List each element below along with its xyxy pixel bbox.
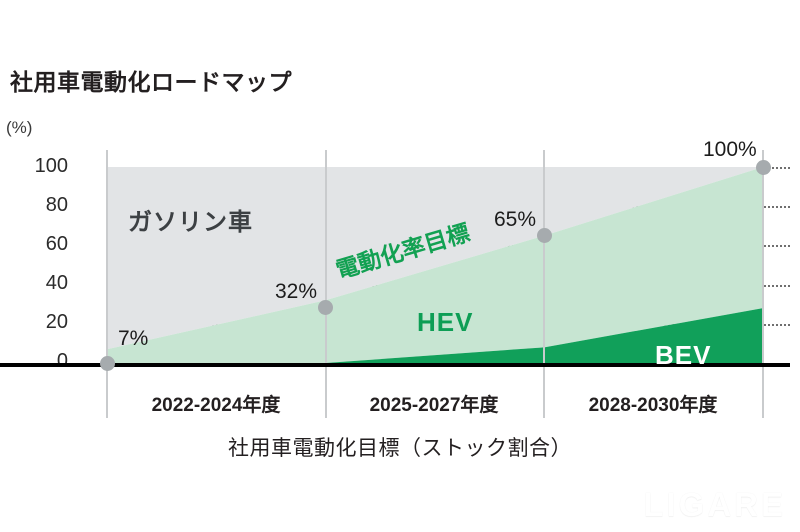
ligare-watermark: LIGARE <box>643 486 786 524</box>
divider-right <box>762 150 764 418</box>
y-tick-60: 60 <box>0 233 68 256</box>
data-label-100: 100% <box>703 138 757 162</box>
data-label-65: 65% <box>494 208 536 232</box>
data-point-marker-65 <box>537 228 552 243</box>
chart-caption: 社用車電動化目標（ストック割合） <box>0 432 800 462</box>
y-tick-0: 0 <box>0 350 68 373</box>
divider-left <box>106 150 108 418</box>
data-label-32: 32% <box>275 280 317 304</box>
data-point-marker-32 <box>318 300 333 315</box>
area-label-hev: HEV <box>417 307 473 338</box>
x-category-label-1: 2022-2024年度 <box>107 392 325 420</box>
y-axis-unit-label: (%) <box>6 118 32 138</box>
divider-2 <box>543 150 545 418</box>
chart-title: 社用車電動化ロードマップ <box>10 63 292 97</box>
chart-root: 社用車電動化ロードマップ (%) 100 80 60 40 20 0 ガソリン車… <box>0 0 800 532</box>
y-tick-100: 100 <box>0 155 68 178</box>
data-point-marker-100 <box>756 160 771 175</box>
area-label-gasoline: ガソリン車 <box>128 202 253 237</box>
area-label-bev: BEV <box>655 340 711 371</box>
data-point-marker-7 <box>100 356 115 371</box>
y-tick-40: 40 <box>0 272 68 295</box>
divider-1 <box>325 150 327 418</box>
y-tick-80: 80 <box>0 194 68 217</box>
x-category-label-3: 2028-2030年度 <box>543 392 763 420</box>
data-label-7: 7% <box>118 327 148 351</box>
y-tick-20: 20 <box>0 311 68 334</box>
x-category-label-2: 2025-2027年度 <box>325 392 543 420</box>
